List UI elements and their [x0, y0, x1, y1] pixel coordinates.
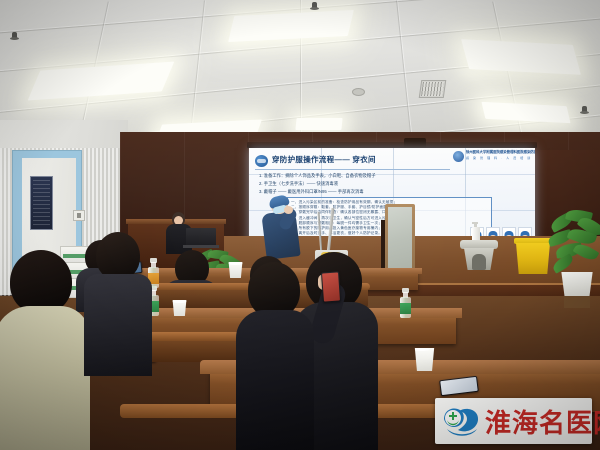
slide-bullet: 3. 戴帽子 —— 戴医用外科口罩/N95 —— 手部再次消毒: [259, 189, 364, 195]
watermark-text: 淮海名医网: [485, 403, 600, 440]
step-stool: [460, 240, 498, 272]
attendee-mid-right-front: [236, 262, 314, 450]
slide-org-subtitle: 感 染 管 理 科 · 人 员 培 训: [466, 156, 532, 160]
ceiling-light: [481, 102, 570, 123]
attendee-torso: [236, 310, 314, 450]
plant-leaf: [573, 241, 600, 263]
attendee-torso: [84, 274, 152, 376]
air-vent-icon: [419, 80, 447, 98]
plant-pot: [560, 272, 594, 298]
medical-waste-bin: [516, 238, 550, 274]
watermark-badge: 淮海名医网: [435, 398, 592, 444]
hospital-logo-icon: [453, 151, 464, 162]
attendee-head: [96, 232, 140, 280]
sprinkler-head-icon: [582, 106, 587, 113]
laptop-base[interactable]: [183, 245, 219, 248]
stool-top: [460, 240, 498, 249]
hand-sanitizer-dispenser[interactable]: [472, 222, 480, 242]
watermark-logo-icon: [441, 403, 481, 439]
slide-title: 穿防护服操作流程—— 穿衣间: [272, 154, 376, 165]
potted-plant: [548, 210, 600, 298]
recording-phone[interactable]: [321, 271, 341, 302]
waste-bin-body: [516, 243, 550, 274]
sprinkler-head-icon: [12, 32, 17, 39]
presenter-hand: [284, 206, 293, 214]
ceiling-light: [295, 118, 342, 130]
wall-notice-board: [30, 176, 53, 230]
stool-opening: [472, 254, 486, 270]
plant-leaf: [551, 253, 576, 274]
laptop-screen[interactable]: [186, 228, 216, 246]
light-switch[interactable]: [73, 210, 85, 221]
slide-org-badge: 徐州医科大学附属医院感染管理科医院感染防控培训 感 染 管 理 科 · 人 员 …: [453, 150, 531, 163]
water-bottle: [400, 288, 411, 318]
attendee-head: [10, 250, 72, 314]
ceiling-light: [228, 10, 354, 42]
paper-cup: [414, 348, 435, 371]
rack-pole: [327, 208, 335, 254]
slide-bullet: 2. 手卫生（七步洗手法）—— 快速消毒液: [259, 181, 338, 187]
presenter-nurse: [262, 196, 300, 258]
slide-bullet: 1. 准备工作：摘除个人饰品及手表，小白鞋、自备衣物及帽子: [259, 173, 376, 179]
smoke-detector-icon: [352, 88, 365, 96]
attendee-front-left: [0, 250, 90, 450]
bottle-label: [400, 303, 411, 314]
slide-logo-icon: [255, 155, 268, 167]
plant-stand: [564, 296, 590, 308]
sprinkler-head-icon: [312, 2, 317, 9]
ceiling-light: [461, 39, 581, 75]
photo-scene: 穿防护服操作流程—— 穿衣间 徐州医科大学附属医院感染管理科医院感染防控培训 感…: [0, 0, 600, 450]
attendee-mid-left: [82, 232, 154, 372]
paper-cup: [172, 300, 187, 316]
attendee-torso: [0, 306, 90, 450]
slide-org-name: 徐州医科大学附属医院感染管理科医院感染防控培训: [466, 150, 535, 156]
slide-title-divider: [255, 169, 450, 170]
